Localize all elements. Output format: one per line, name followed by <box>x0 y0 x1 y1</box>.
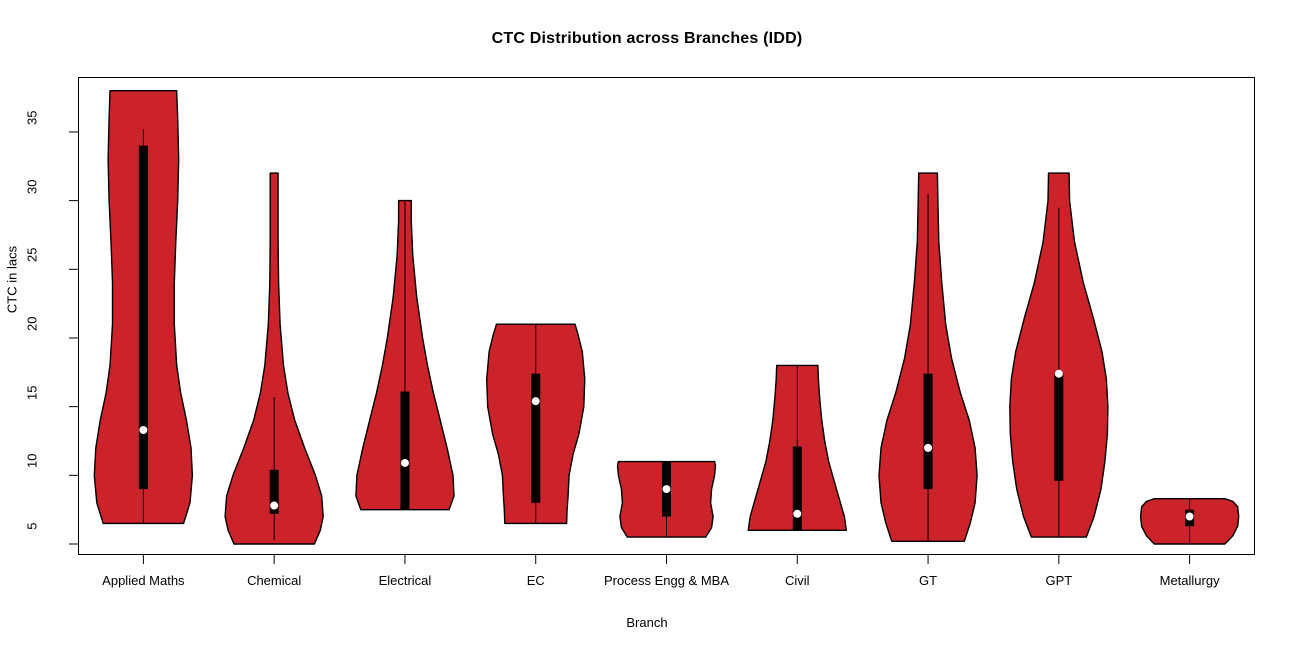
iqr-box <box>1054 374 1063 481</box>
x-tick-label: Electrical <box>379 573 432 588</box>
x-tick-label: GPT <box>1045 573 1072 588</box>
iqr-box <box>139 146 148 489</box>
median-marker <box>1186 513 1194 521</box>
y-tick-label: 25 <box>25 248 40 288</box>
x-tick-label: EC <box>527 573 545 588</box>
y-tick-label: 10 <box>25 454 40 494</box>
x-tick-label: Metallurgy <box>1160 573 1220 588</box>
median-marker <box>1055 370 1063 378</box>
y-axis-ticks <box>69 132 78 544</box>
median-marker <box>139 426 147 434</box>
x-tick-label: Civil <box>785 573 810 588</box>
x-axis-title: Branch <box>0 615 1294 630</box>
violin-plot-svg <box>0 0 1294 653</box>
median-marker <box>532 397 540 405</box>
y-tick-label: 20 <box>25 316 40 356</box>
x-tick-label: Chemical <box>247 573 301 588</box>
y-axis-title: CTC in lacs <box>5 100 20 460</box>
violin-series-group <box>94 91 1238 544</box>
y-tick-label: 15 <box>25 385 40 425</box>
median-marker <box>663 485 671 493</box>
median-marker <box>793 510 801 518</box>
x-tick-label: Process Engg & MBA <box>604 573 729 588</box>
median-marker <box>401 459 409 467</box>
x-tick-label: GT <box>919 573 937 588</box>
y-tick-label: 30 <box>25 179 40 219</box>
iqr-box <box>400 392 409 510</box>
y-tick-label: 5 <box>25 523 40 563</box>
iqr-box <box>531 374 540 503</box>
iqr-box <box>924 374 933 489</box>
median-marker <box>270 502 278 510</box>
x-tick-label: Applied Maths <box>102 573 184 588</box>
x-axis-ticks <box>143 555 1189 564</box>
median-marker <box>924 444 932 452</box>
chart-canvas: CTC Distribution across Branches (IDD) C… <box>0 0 1294 653</box>
y-tick-label: 35 <box>25 110 40 150</box>
